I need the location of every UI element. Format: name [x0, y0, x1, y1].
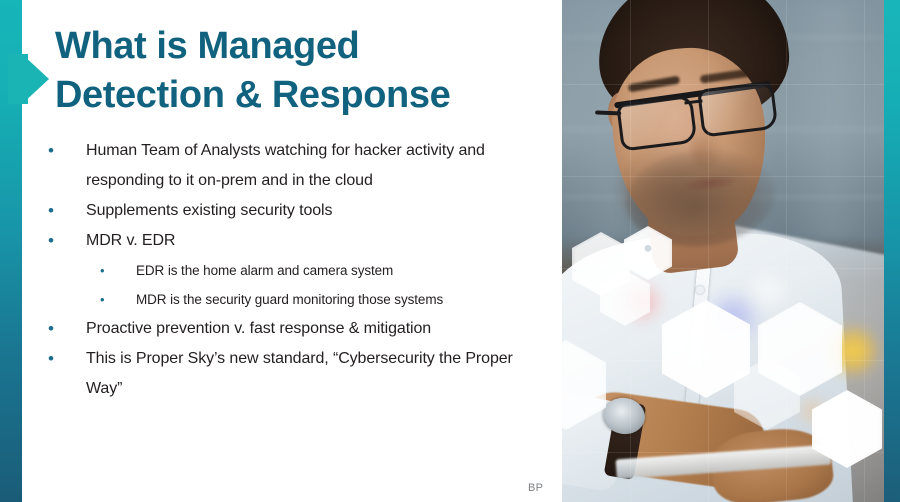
slide-canvas: What is Managed Detection & Response • H…	[0, 0, 900, 502]
page-title-line-2: Detection & Response	[55, 71, 535, 120]
bullet-list: • Human Team of Analysts watching for ha…	[48, 136, 548, 404]
footer-initials: BP	[528, 482, 543, 494]
list-item-text: MDR is the security guard monitoring tho…	[136, 285, 548, 314]
bullet-marker-icon: •	[100, 285, 136, 314]
page-title-line-1: What is Managed	[55, 22, 535, 71]
bullet-marker-icon: •	[48, 196, 86, 226]
list-item-text: MDR v. EDR	[86, 226, 548, 256]
list-item-text: This is Proper Sky’s new standard, “Cybe…	[86, 344, 548, 404]
list-item-text: Human Team of Analysts watching for hack…	[86, 136, 548, 196]
bullet-marker-icon: •	[100, 256, 136, 285]
list-item: • This is Proper Sky’s new standard, “Cy…	[48, 344, 548, 404]
bullet-marker-icon: •	[48, 314, 86, 344]
bullet-marker-icon: •	[48, 344, 86, 374]
list-item-sub: • EDR is the home alarm and camera syste…	[48, 256, 548, 285]
list-item: • Proactive prevention v. fast response …	[48, 314, 548, 344]
list-item: • MDR v. EDR	[48, 226, 548, 256]
right-chevron-icon	[22, 54, 49, 104]
list-item-text: EDR is the home alarm and camera system	[136, 256, 548, 285]
24-7-support-label: 24/7	[590, 254, 617, 271]
list-item-text: Proactive prevention v. fast response & …	[86, 314, 548, 344]
list-item: • Human Team of Analysts watching for ha…	[48, 136, 548, 196]
bullet-marker-icon: •	[48, 136, 86, 166]
list-item: • Supplements existing security tools	[48, 196, 548, 226]
page-title: What is Managed Detection & Response	[55, 22, 535, 120]
bullet-marker-icon: •	[48, 226, 86, 256]
right-accent-bar	[884, 0, 900, 502]
list-item-text: Supplements existing security tools	[86, 196, 548, 226]
hero-photo: 24/7	[562, 0, 884, 502]
list-item-sub: • MDR is the security guard monitoring t…	[48, 285, 548, 314]
